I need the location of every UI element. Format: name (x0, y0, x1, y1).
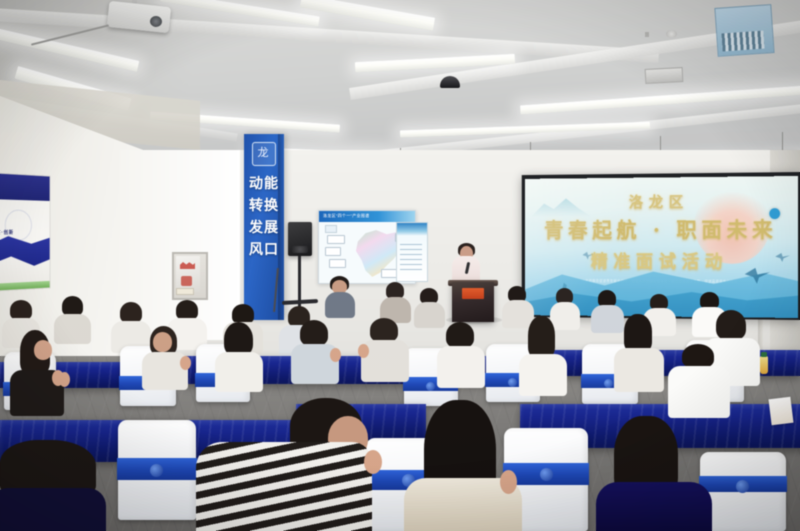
cabinet-red-graphic (181, 276, 192, 286)
chair-sash-knot (604, 379, 613, 388)
banner-left-text: 务实·创新 (0, 229, 50, 236)
pillar-edge-shadow (278, 134, 284, 320)
striped-shirt (196, 442, 372, 531)
cabinet-label (176, 288, 194, 295)
ceiling-speaker-icon (666, 30, 677, 38)
chair-sash-knot (426, 382, 435, 391)
banner-header-bar (0, 173, 50, 201)
rollup-banner-left: 务实·创新 (0, 172, 50, 292)
smoke-detector-icon (645, 32, 649, 37)
event-chair (118, 420, 196, 520)
person-body (596, 482, 712, 531)
cabinet-glass (176, 256, 200, 292)
spotlight-rod (782, 132, 783, 152)
documents-on-table (768, 397, 793, 425)
chair-sash-knot (508, 378, 517, 387)
pillar-logo-glyph: 龙 (256, 146, 270, 160)
map-poster-title: 洛龙区"四个一"产业图谱 (323, 213, 369, 219)
clapping-hand (500, 470, 517, 494)
map-callout (325, 247, 341, 256)
ceiling-access-panel (645, 67, 684, 84)
banner-wave-graphic (0, 233, 50, 273)
banner-seal-icon (5, 209, 32, 240)
map-legend (325, 225, 337, 233)
audience-person-foreground (404, 400, 524, 531)
screen-title-line-3: 精准面试活动 (525, 248, 798, 274)
podium-plaque (462, 288, 484, 299)
chair-sash-knot (150, 464, 163, 477)
screen-title-line-2: 青春起航 · 职面未来 (525, 214, 798, 244)
bottle-cap (761, 352, 767, 357)
photo-scene: 务实·创新 龙 动能转换 发展风口 洛龙区"四个一"产业图谱 洛龙区 青春起航 … (0, 0, 800, 531)
map-callout (327, 235, 345, 244)
chair-sash-knot (736, 480, 749, 493)
clapping-hand (364, 450, 382, 474)
pillar-banner-text: 动能转换 发展风口 (248, 172, 280, 260)
pa-speaker-driver (292, 246, 308, 253)
audience-person-foreground (196, 398, 376, 531)
air-vent-louvers (721, 31, 764, 52)
map-callout (329, 259, 346, 268)
info-sign-text-lines (400, 244, 422, 274)
person-body (0, 488, 106, 531)
audience-person-foreground (596, 416, 716, 531)
audience-person-foreground (0, 440, 110, 531)
screen-title-line-1: 洛龙区 (525, 190, 798, 212)
screen-logo-badge (769, 208, 780, 219)
beverage-bottle (760, 356, 768, 374)
